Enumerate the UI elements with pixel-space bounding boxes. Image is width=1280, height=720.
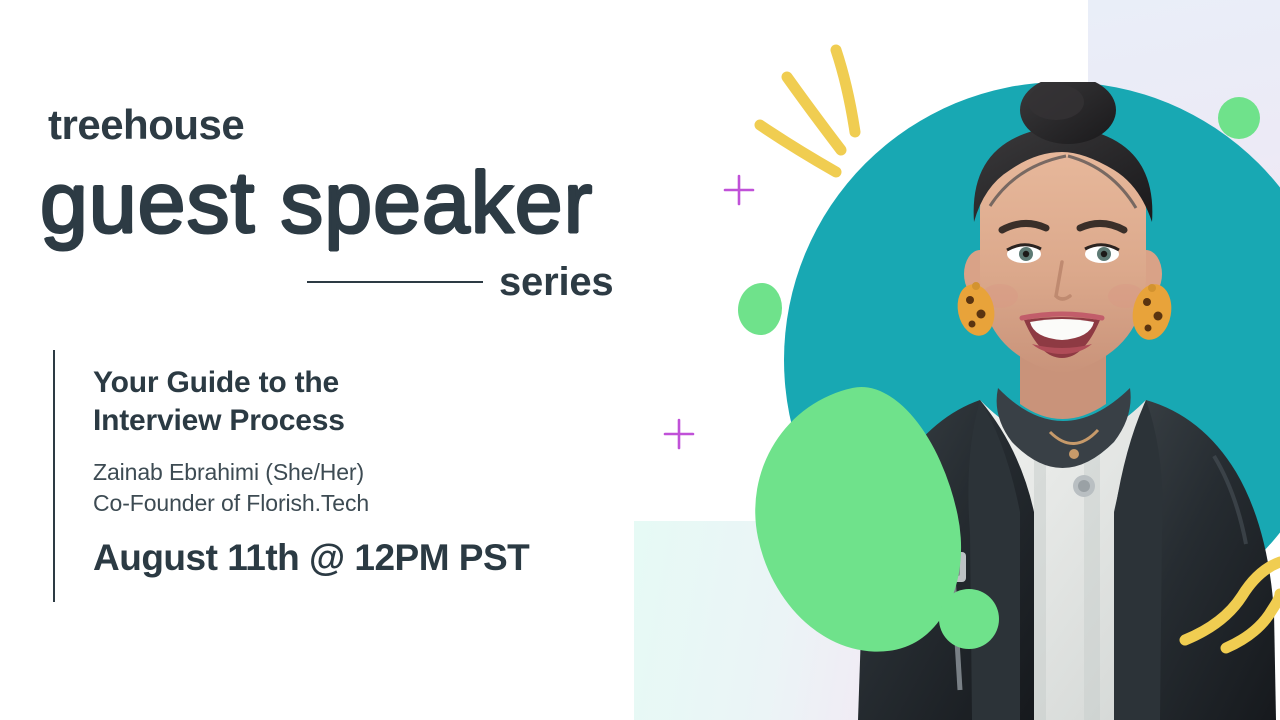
talk-title-line-1: Your Guide to the xyxy=(93,366,339,399)
event-details-block: Your Guide to the Interview Process Zain… xyxy=(53,350,529,602)
promo-slide: treehouse guest speaker series Your Guid… xyxy=(0,0,1280,720)
speaker-name: Zainab Ebrahimi (She/Her) xyxy=(93,441,529,488)
series-label: series xyxy=(499,262,613,302)
green-dot-shape-top-right xyxy=(1218,97,1260,139)
talk-title: Your Guide to the Interview Process xyxy=(93,350,529,441)
green-blob-small-shape xyxy=(738,283,782,335)
talk-title-line-2: Interview Process xyxy=(93,404,345,437)
green-dot-shape-bottom xyxy=(939,589,999,649)
plus-mark-top xyxy=(725,176,753,204)
series-divider-rule xyxy=(307,281,483,283)
speaker-role: Co-Founder of Florish.Tech xyxy=(93,488,529,519)
headline-guest-speaker: guest speaker xyxy=(40,160,593,246)
plus-mark-bottom xyxy=(665,420,693,448)
brand-wordmark: treehouse xyxy=(48,104,244,146)
event-datetime: August 11th @ 12PM PST xyxy=(93,519,529,576)
series-row: series xyxy=(307,258,627,306)
